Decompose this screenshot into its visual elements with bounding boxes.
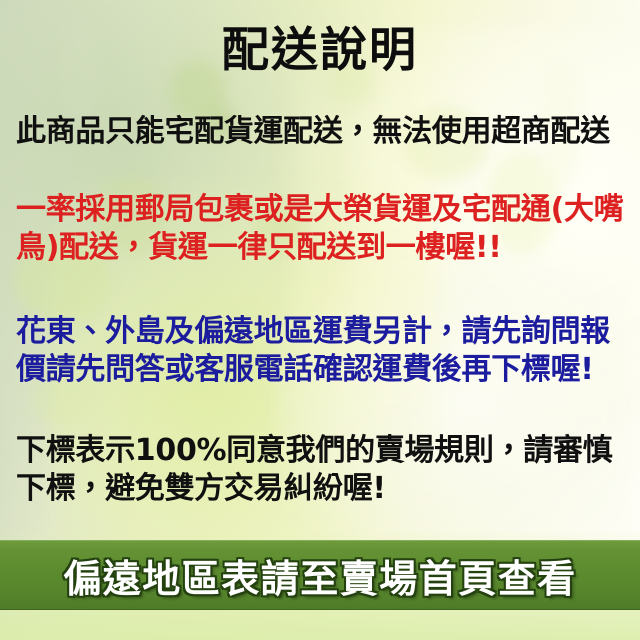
notice-paragraph-carrier-list: 一率採用郵局包裹或是大榮貨運及宅配通(大嘴鳥)配送，貨運一律只配送到一樓喔!! [16, 191, 630, 267]
shipping-notice-banner: 配送說明 此商品只能宅配貨運配送，無法使用超商配送 一率採用郵局包裹或是大榮貨運… [0, 0, 640, 640]
notice-paragraph-courier-only: 此商品只能宅配貨運配送，無法使用超商配送 [16, 113, 630, 151]
notice-content: 配送說明 此商品只能宅配貨運配送，無法使用超商配送 一率採用郵局包裹或是大榮貨運… [0, 0, 640, 640]
footer-banner-label: 偏遠地區表請至賣場首頁查看 [63, 548, 577, 603]
footer-banner: 偏遠地區表請至賣場首頁查看 [0, 540, 640, 610]
notice-paragraph-remote-area-fee: 花東、外島及偏遠地區運費另計，請先詢問報價請先問答或客服電話確認運費後再下標喔! [16, 313, 630, 389]
page-title: 配送說明 [0, 27, 640, 74]
notice-paragraph-bid-agreement: 下標表示100%同意我們的賣場規則，請審慎下標，避免雙方交易糾紛喔! [16, 432, 630, 508]
